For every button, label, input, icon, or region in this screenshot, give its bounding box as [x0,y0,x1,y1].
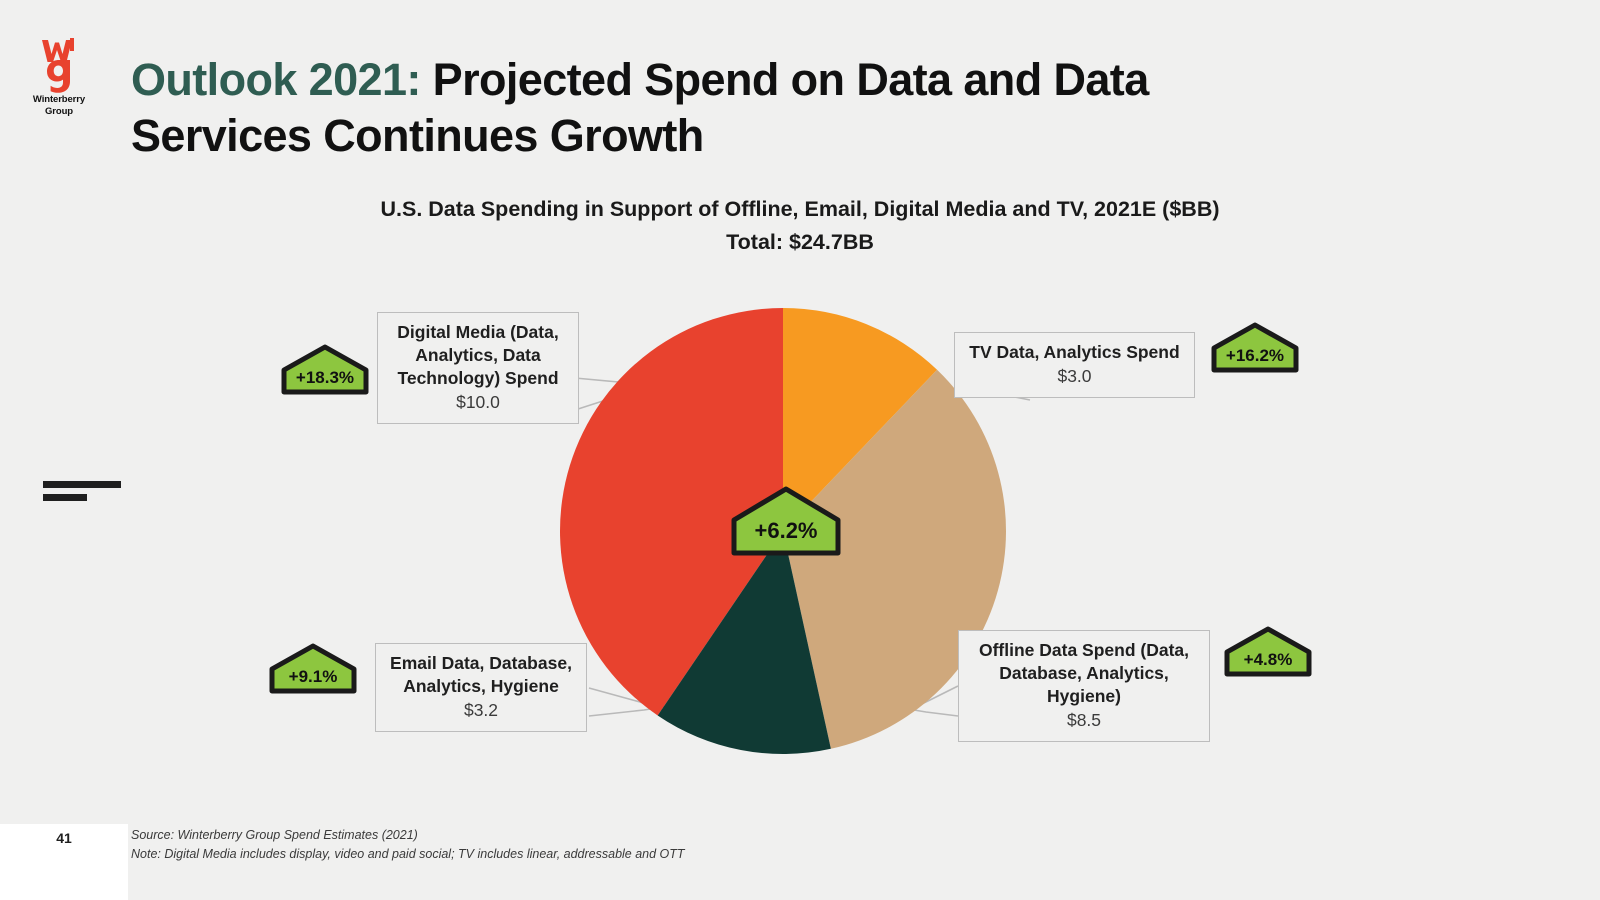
logo-word-line2: Group [28,106,90,118]
page-title: Outlook 2021: Projected Spend on Data an… [131,52,1331,164]
growth-badge-email: +9.1% [269,643,357,694]
callout-digital-media-label-line3: Technology) Spend [388,367,568,390]
wg-logo-icon [28,32,90,94]
page-title-accent: Outlook 2021: [131,54,421,105]
growth-badge-email-text: +9.1% [269,667,357,687]
callout-email-label-line2: Analytics, Hygiene [386,675,576,698]
growth-badge-tv-text: +16.2% [1211,346,1299,366]
callout-tv-label-line1: TV Data, Analytics Spend [965,341,1184,364]
growth-badge-digital-media-text: +18.3% [281,368,369,388]
decorative-rule-marks [43,481,123,503]
callout-offline-value: $8.5 [969,708,1199,732]
chart-title-line2: Total: $24.7BB [200,226,1400,259]
note-line: Note: Digital Media includes display, vi… [131,845,1231,864]
growth-badge-digital-media: +18.3% [281,344,369,395]
callout-digital-media-label-line1: Digital Media (Data, [388,321,568,344]
logo-word-line1: Winterberry [28,94,90,106]
callout-digital-media-value: $10.0 [388,390,568,414]
callout-email[interactable]: Email Data, Database, Analytics, Hygiene… [375,643,587,732]
growth-badge-offline-text: +4.8% [1224,650,1312,670]
callout-digital-media-label-line2: Analytics, Data [388,344,568,367]
growth-badge-tv: +16.2% [1211,322,1299,373]
callout-email-value: $3.2 [386,698,576,722]
slide-canvas: Winterberry Group Outlook 2021: Projecte… [0,0,1600,900]
callout-offline-label-line2: Database, Analytics, [969,662,1199,685]
rule-bar-long [43,481,121,488]
growth-badge-offline: +4.8% [1224,626,1312,677]
rule-bar-short [43,494,87,501]
page-number: 41 [0,830,128,846]
winterberry-logo: Winterberry Group [28,32,90,130]
callout-offline-label-line1: Offline Data Spend (Data, [969,639,1199,662]
callout-digital-media[interactable]: Digital Media (Data, Analytics, Data Tec… [377,312,579,424]
callout-offline-label-line3: Hygiene) [969,685,1199,708]
growth-badge-center-total-text: +6.2% [731,518,841,544]
callout-email-label-line1: Email Data, Database, [386,652,576,675]
chart-title-line1: U.S. Data Spending in Support of Offline… [200,193,1400,226]
chart-title: U.S. Data Spending in Support of Offline… [200,193,1400,259]
logo-wordmark: Winterberry Group [28,94,90,118]
source-line: Source: Winterberry Group Spend Estimate… [131,826,1231,845]
source-note: Source: Winterberry Group Spend Estimate… [131,826,1231,864]
growth-badge-center-total: +6.2% [731,486,841,556]
callout-tv[interactable]: TV Data, Analytics Spend $3.0 [954,332,1195,398]
callout-offline[interactable]: Offline Data Spend (Data, Database, Anal… [958,630,1210,742]
callout-tv-value: $3.0 [965,364,1184,388]
